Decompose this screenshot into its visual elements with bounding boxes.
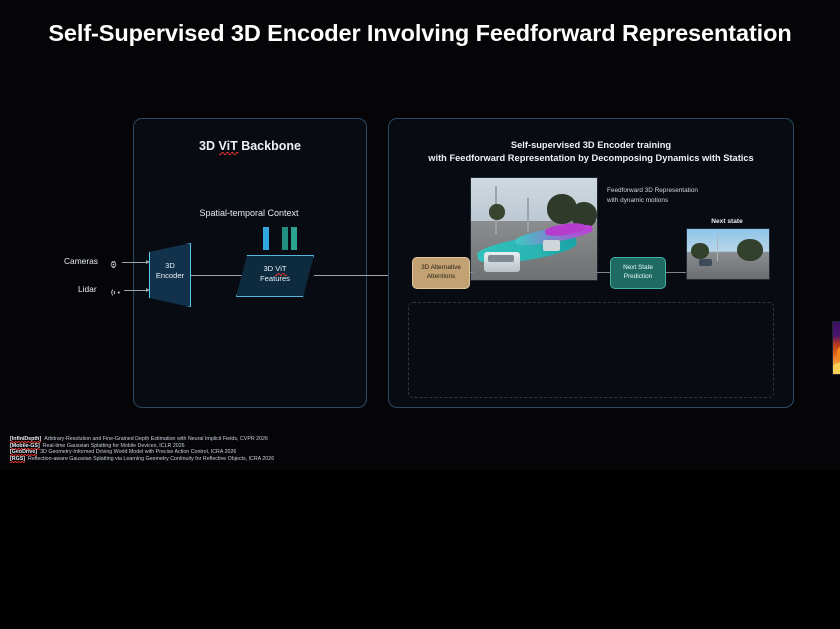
references-list: [InfiniDepth] Arbitrary-Resolution and F… [10,436,340,462]
reference-item: [RGS] Reflection-aware Gaussian Splattin… [10,456,340,462]
encoder-label-line2: Encoder [149,271,191,281]
reference-text: 3D Geometry-Informed Driving World Model… [40,449,236,455]
lidar-signal-icon [110,284,123,302]
chip-next-line2: Prediction [623,273,653,282]
context-bars [258,227,302,250]
chip-next-line1: Next State [623,264,653,273]
page-title: Self-Supervised 3D Encoder Involving Fee… [0,20,840,47]
vit-features-label: 3D ViT Features [236,264,314,285]
left-title-vit: ViT [219,139,238,153]
input-label-lidar: Lidar [78,284,97,294]
left-title-prefix: 3D [199,139,218,153]
features-vit: ViT [275,264,286,274]
reference-tag: [RGS] [10,456,25,462]
tree-shape-3 [489,204,505,220]
spatial-temporal-context-label: Spatial-temporal Context [133,208,365,218]
connector-prediction-to-next [664,272,686,273]
reference-text: Real-time Gaussian Splatting for Mobile … [43,443,185,449]
lidar-connector [124,290,148,291]
reference-tag: [Mobile-GS] [10,443,40,449]
reference-item: [InfiniDepth] Arbitrary-Resolution and F… [10,436,340,442]
thumbnail-depth-map [832,321,840,375]
depth-ground-band [833,359,840,374]
pole-icon [717,235,718,261]
features-label-line1: 3D ViT [236,264,314,274]
chip-3d-alternative-attentions[interactable]: 3D Alternative Attentions [412,257,470,289]
encoder-label-line1: 3D [149,261,191,271]
tree-shape-2 [737,239,763,261]
chip-alt-line1: 3D Alternative [421,264,461,273]
output-label-scene-depth: Scene depth [832,622,840,629]
left-panel-title: 3D ViT Backbone [134,139,366,153]
camera-icon [109,256,118,274]
context-bar-teal-2 [291,227,297,250]
reference-text: Arbitrary-Resolution and Fine-Grained De… [44,436,268,442]
reference-item: [GeoDrive] 3D Geometry-Informed Driving … [10,449,340,455]
outputs-group [408,302,774,398]
reference-text: Reflection-aware Gaussian Splatting via … [28,456,274,462]
reference-item: [Mobile-GS] Real-time Gaussian Splatting… [10,443,340,449]
vehicle-shape [699,259,712,266]
reference-tag: [GeoDrive] [10,449,37,455]
feedforward-annotation: Feedforward 3D Representation with dynam… [607,186,727,205]
cameras-connector [122,262,148,263]
annotation-line2: with dynamic motions [607,196,727,206]
context-bar-teal [282,227,288,250]
chip-next-state-prediction[interactable]: Next State Prediction [610,257,666,289]
annotation-line1: Feedforward 3D Representation [607,186,727,196]
vehicle-main [484,252,520,272]
chip-alt-line2: Attentions [421,273,461,282]
input-label-cameras: Cameras [64,256,98,266]
vehicle-far [543,240,560,251]
left-title-suffix: Backbone [238,139,301,153]
slide-root: Self-Supervised 3D Encoder Involving Fee… [0,0,840,470]
right-title-line2: with Feedforward Representation by Decom… [389,152,793,165]
features-prefix: 3D [263,264,275,273]
context-bar-blue [263,227,269,250]
tree-shape-1 [691,243,709,259]
pole-icon-2 [527,198,529,232]
next-state-thumbnail [686,228,770,280]
main-scene-thumbnail [470,177,598,281]
right-panel-title: Self-supervised 3D Encoder training with… [389,139,793,166]
next-state-label: Next state [684,218,770,225]
encoder-block-label: 3D Encoder [149,261,191,281]
reference-tag: [InfiniDepth] [10,436,41,442]
right-title-line1: Self-supervised 3D Encoder training [389,139,793,152]
